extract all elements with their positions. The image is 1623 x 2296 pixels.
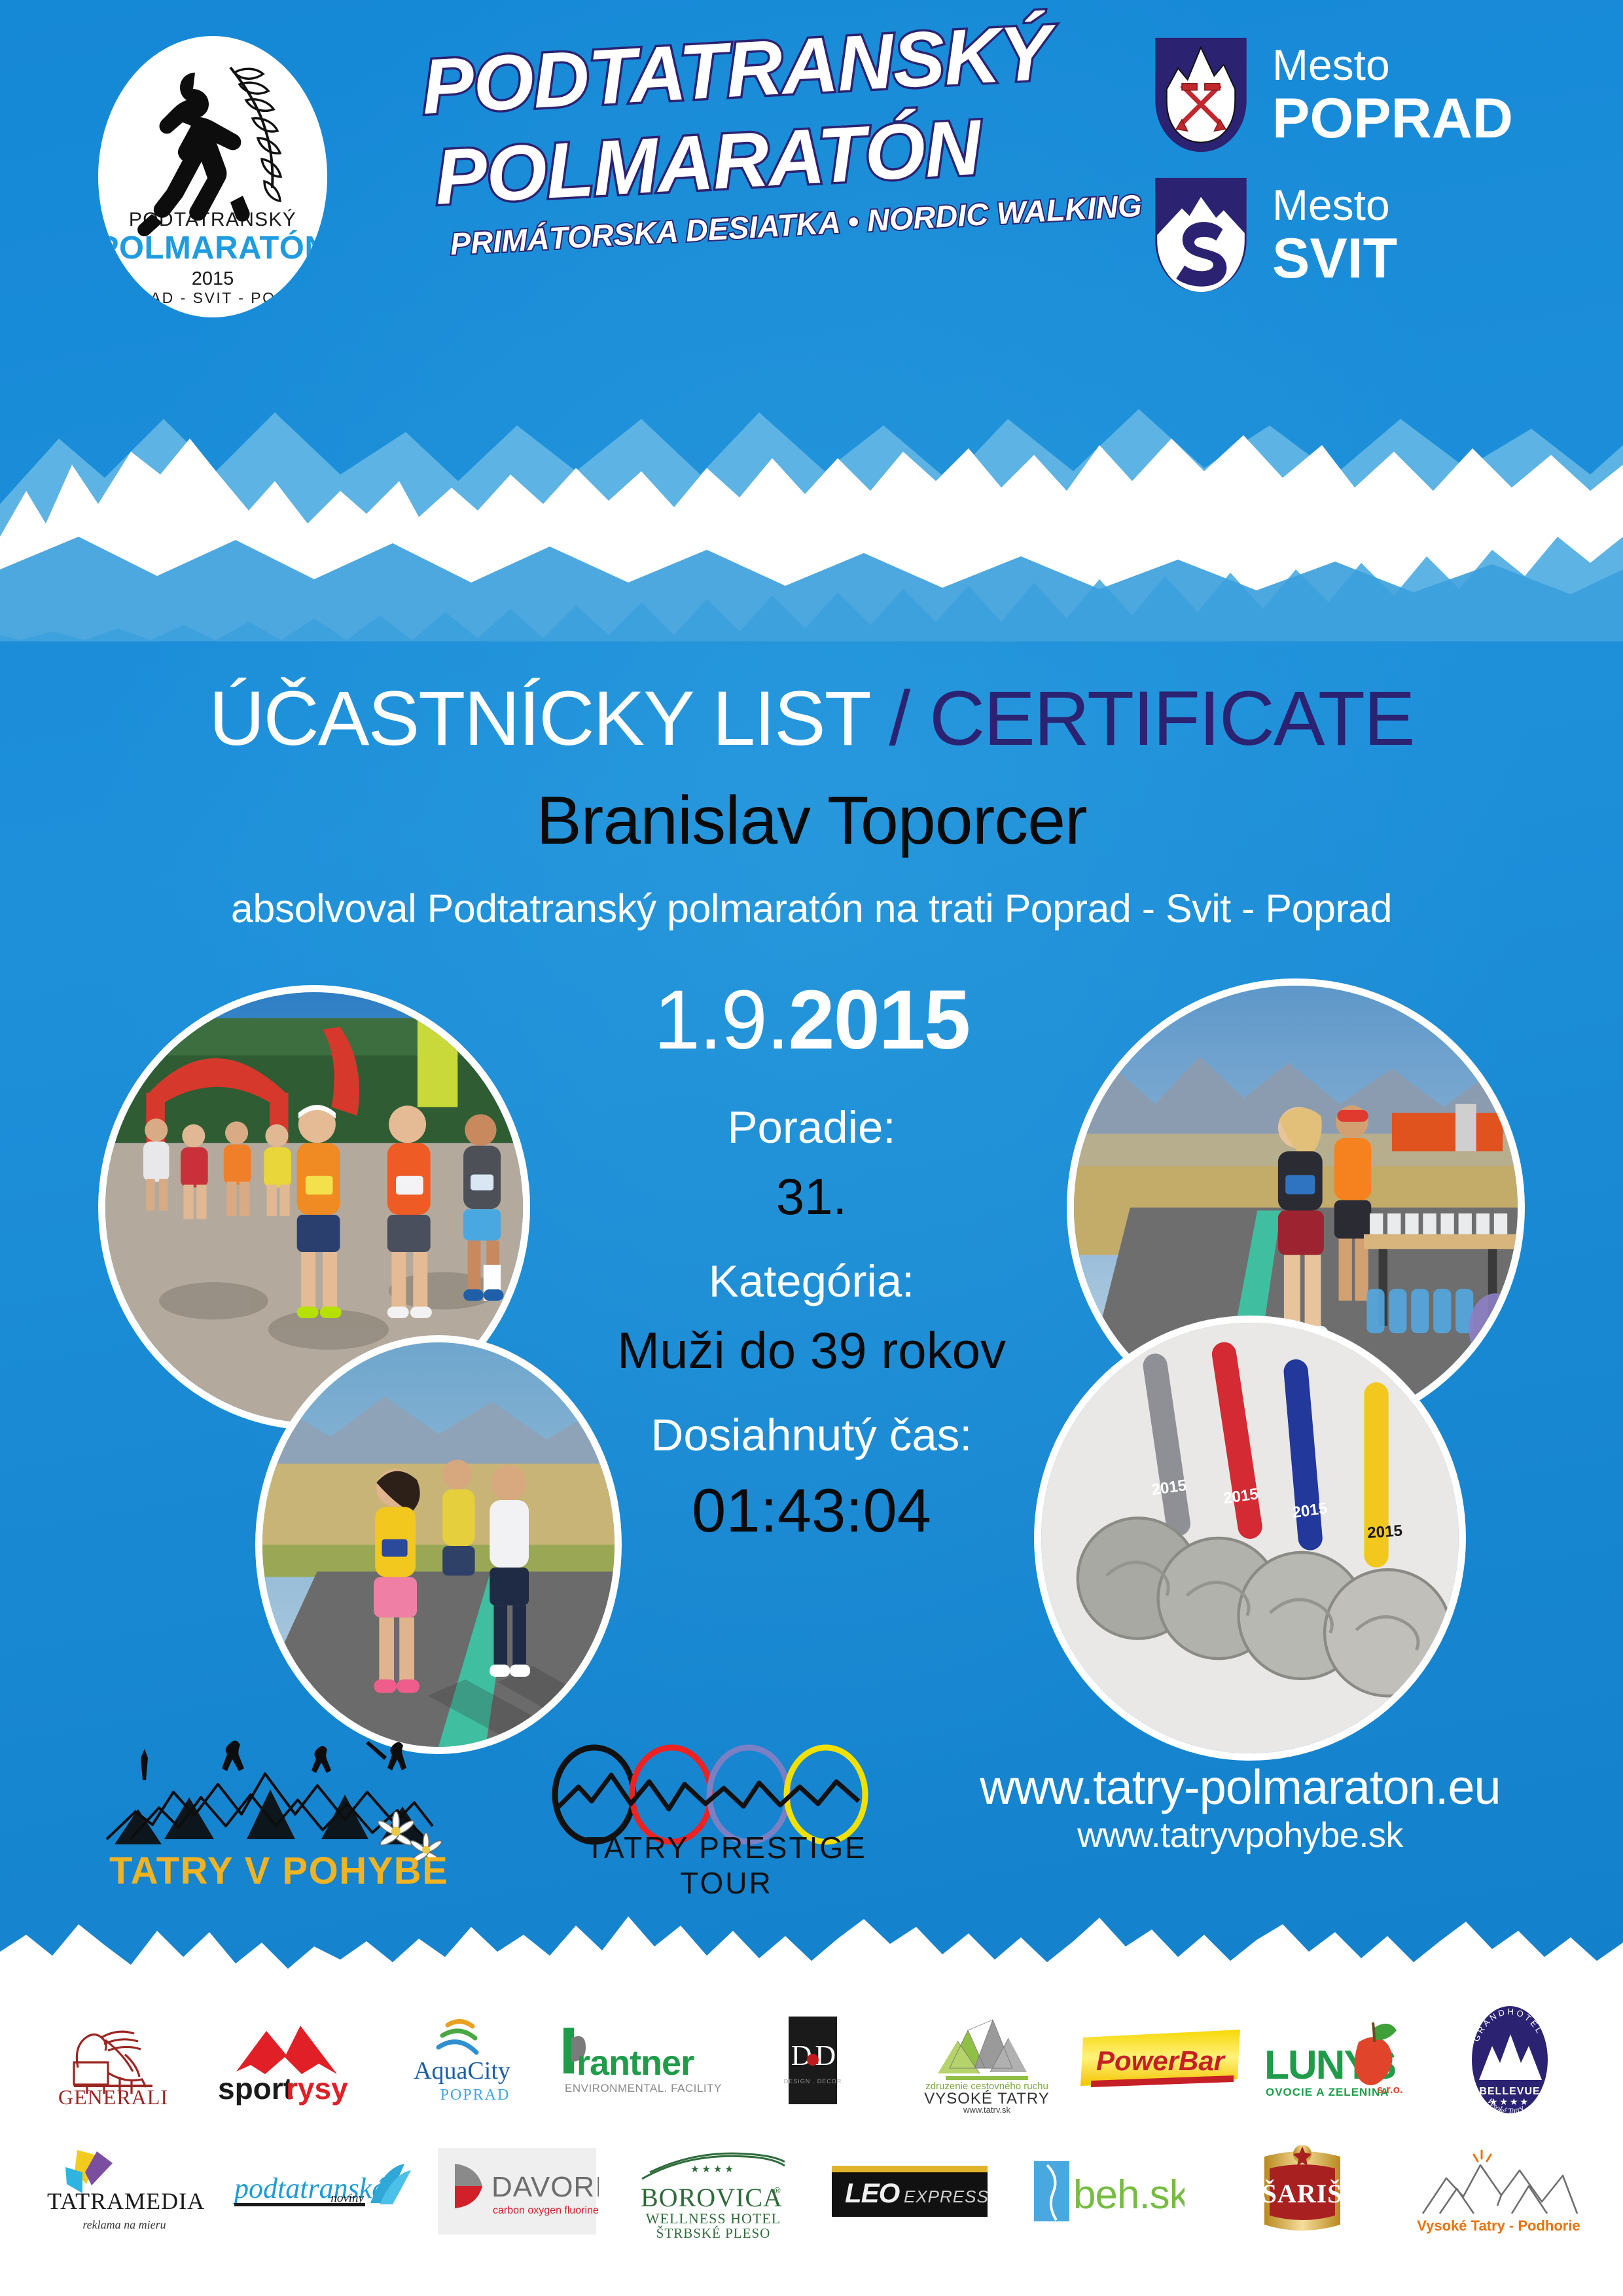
sponsor-powerbar: PowerBar <box>1074 1996 1248 2124</box>
svg-text:rysy: rysy <box>286 2072 348 2106</box>
svit-coat-of-arms-icon <box>1152 176 1250 294</box>
sponsor-borovica: ★★★★ BOROVICA ® WELLNESS HOTEL ŠTRBSKÉ P… <box>615 2124 811 2258</box>
sponsor-podtatranske-noviny: podtatranské noviny <box>223 2124 419 2258</box>
city-logo-svit: Mesto SVIT <box>1152 176 1577 294</box>
mountain-silhouette-band <box>0 340 1623 641</box>
category-value: Muži do 39 rokov <box>543 1321 1080 1380</box>
city-logos: Mesto POPRAD Mesto SVIT <box>1152 36 1577 316</box>
sponsor-url: www.tatry.sk <box>963 2105 1010 2113</box>
sponsor-label: ŠARIŠ <box>1262 2179 1343 2208</box>
roundel-line-4: POPRAD - SVIT - POPRAD <box>98 289 327 307</box>
sponsor-grandhotel-bellevue: BELLEVUE ★★★★ GRANDHOTEL Vysoké Tatry <box>1423 1996 1597 2124</box>
city-label-big: SVIT <box>1272 230 1397 287</box>
event-title-block: PODTATRANSKÝ POLMARATÓN PRIMÁTORSKA DESI… <box>419 36 1093 311</box>
sponsor-sublabel: noviny <box>330 2191 364 2205</box>
laurel-branch-icon <box>223 62 309 226</box>
result-data-column: 1.9.2015 Poradie: 31. Kategória: Muži do… <box>543 978 1080 1547</box>
sponsor-row-1: GENERALI sport rysy AquaCity <box>26 1990 1597 2124</box>
event-date-daymonth: 1.9. <box>654 973 789 1067</box>
sponsor-label: TATRAMEDIA <box>47 2188 205 2214</box>
sponsor-sublabel-2: ŠTRBSKÉ PLESO <box>656 2225 771 2240</box>
sponsor-label: AquaCity <box>414 2057 510 2085</box>
sponsor-sublabel-2: s.r.o. <box>1377 2083 1403 2096</box>
sponsor-sublabel: OVOCIE A ZELENINA <box>1266 2086 1389 2098</box>
sponsor-sublabel: POPRAD <box>440 2087 510 2104</box>
certificate-poster: PODTATRANSKÝ POLMARATÓN 2015 POPRAD - SV… <box>0 0 1623 2296</box>
sponsor-label: DAVORIN <box>491 2171 599 2203</box>
sponsor-vysoke-tatry: zdruzenie cestovného ruchu VYSOKÉ TATRY … <box>900 1996 1074 2124</box>
certificate-heading-en: / CERTIFICATE <box>889 675 1414 762</box>
sponsor-row-2: TATRAMEDIA reklama na mieru podtatranské… <box>26 2124 1597 2258</box>
time-value: 01:43:04 <box>543 1475 1080 1546</box>
sponsor-sportrysy: sport rysy <box>200 1996 374 2124</box>
sponsor-saris: ŠARIŠ <box>1204 2124 1400 2258</box>
sponsor-label: Vysoké Tatry - Podhorie <box>1417 2217 1580 2234</box>
sponsor-generali: GENERALI <box>26 1996 200 2124</box>
sponsor-sublabel: WELLNESS HOTEL <box>646 2210 781 2227</box>
sponsor-sublabel: DESIGN . DECOR <box>784 2078 842 2085</box>
sponsor-davorin: DAVORIN carbon oxygen fluorine <box>419 2124 615 2258</box>
sponsor-lunys: LUNYS OVOCIE A ZELENINA s.r.o. <box>1249 1996 1423 2124</box>
bottom-mountain-edge <box>0 1878 1623 1996</box>
svg-text:sport: sport <box>218 2072 293 2106</box>
sponsor-behsk: beh.sk <box>1008 2124 1204 2258</box>
sponsor-tatramedia: TATRAMEDIA reklama na mieru <box>26 2124 223 2258</box>
sponsor-sublabel: BELLEVUE <box>1479 2086 1540 2097</box>
participant-name: Branislav Toporcer <box>0 782 1623 860</box>
sponsor-strip: GENERALI sport rysy AquaCity <box>0 1990 1623 2296</box>
website-urls: www.tatry-polmaraton.eu www.tatryvpohybe… <box>926 1761 1554 1858</box>
sponsor-aquacity: AquaCity POPRAD <box>375 1996 549 2124</box>
time-label: Dosiahnutý čas: <box>543 1409 1080 1461</box>
rank-value: 31. <box>543 1168 1080 1227</box>
poster-header: PODTATRANSKÝ POLMARATÓN 2015 POPRAD - SV… <box>0 0 1623 367</box>
sponsor-label: LEO <box>845 2178 900 2208</box>
city-label-small: Mesto <box>1272 183 1397 226</box>
svg-text:2015: 2015 <box>1366 1522 1402 1542</box>
sponsor-leo-express: LEO EXPRESS <box>811 2124 1008 2258</box>
sponsor-sublabel: carbon oxygen fluorine <box>493 2205 599 2216</box>
sponsor-sublabel: reklama na mieru <box>82 2218 166 2231</box>
city-logo-poprad: Mesto POPRAD <box>1152 36 1577 154</box>
rank-label: Poradie: <box>543 1102 1080 1153</box>
svg-text:rantner: rantner <box>577 2043 694 2083</box>
sponsor-label: PowerBar <box>1096 2045 1226 2076</box>
sponsor-sublabel: ENVIRONMENTAL. FACILITY SERVICES <box>565 2082 726 2094</box>
city-label-small: Mesto <box>1272 43 1513 86</box>
event-roundel-logo: PODTATRANSKÝ POLMARATÓN 2015 POPRAD - SV… <box>98 36 327 317</box>
sponsor-brantner: rantner ENVIRONMENTAL. FACILITY SERVICES <box>549 1996 726 2124</box>
event-date: 1.9.2015 <box>543 978 1080 1062</box>
sponsor-vysoke-tatry-podhorie: Vysoké Tatry - Podhorie <box>1400 2124 1597 2258</box>
event-date-year: 2015 <box>788 973 969 1067</box>
category-label: Kategória: <box>543 1255 1080 1307</box>
svg-text:®: ® <box>774 2185 781 2195</box>
svg-text:★★★★: ★★★★ <box>690 2164 736 2175</box>
photo-medals: 2015 2015 2015 2015 <box>1034 1316 1466 1761</box>
sponsor-sublabel: EXPRESS <box>904 2187 989 2206</box>
certificate-heading-sk: ÚČASTNÍCKY LIST <box>209 675 889 762</box>
url-primary[interactable]: www.tatry-polmaraton.eu <box>926 1761 1554 1814</box>
certificate-heading: ÚČASTNÍCKY LIST / CERTIFICATE <box>0 674 1623 763</box>
url-secondary[interactable]: www.tatryvpohybe.sk <box>926 1814 1554 1858</box>
poprad-coat-of-arms-icon <box>1152 36 1250 154</box>
sponsor-dd-design: D D DESIGN . DECOR <box>726 1996 900 2124</box>
sponsor-label: beh.sk <box>1073 2172 1185 2217</box>
sponsor-label: GENERALI <box>58 2085 168 2109</box>
certificate-subtitle: absolvoval Podtatranský polmaratón na tr… <box>0 886 1623 931</box>
roundel-line-3: 2015 <box>192 268 234 290</box>
sponsor-label: BOROVICA <box>641 2183 783 2212</box>
city-label-big: POPRAD <box>1272 90 1513 147</box>
